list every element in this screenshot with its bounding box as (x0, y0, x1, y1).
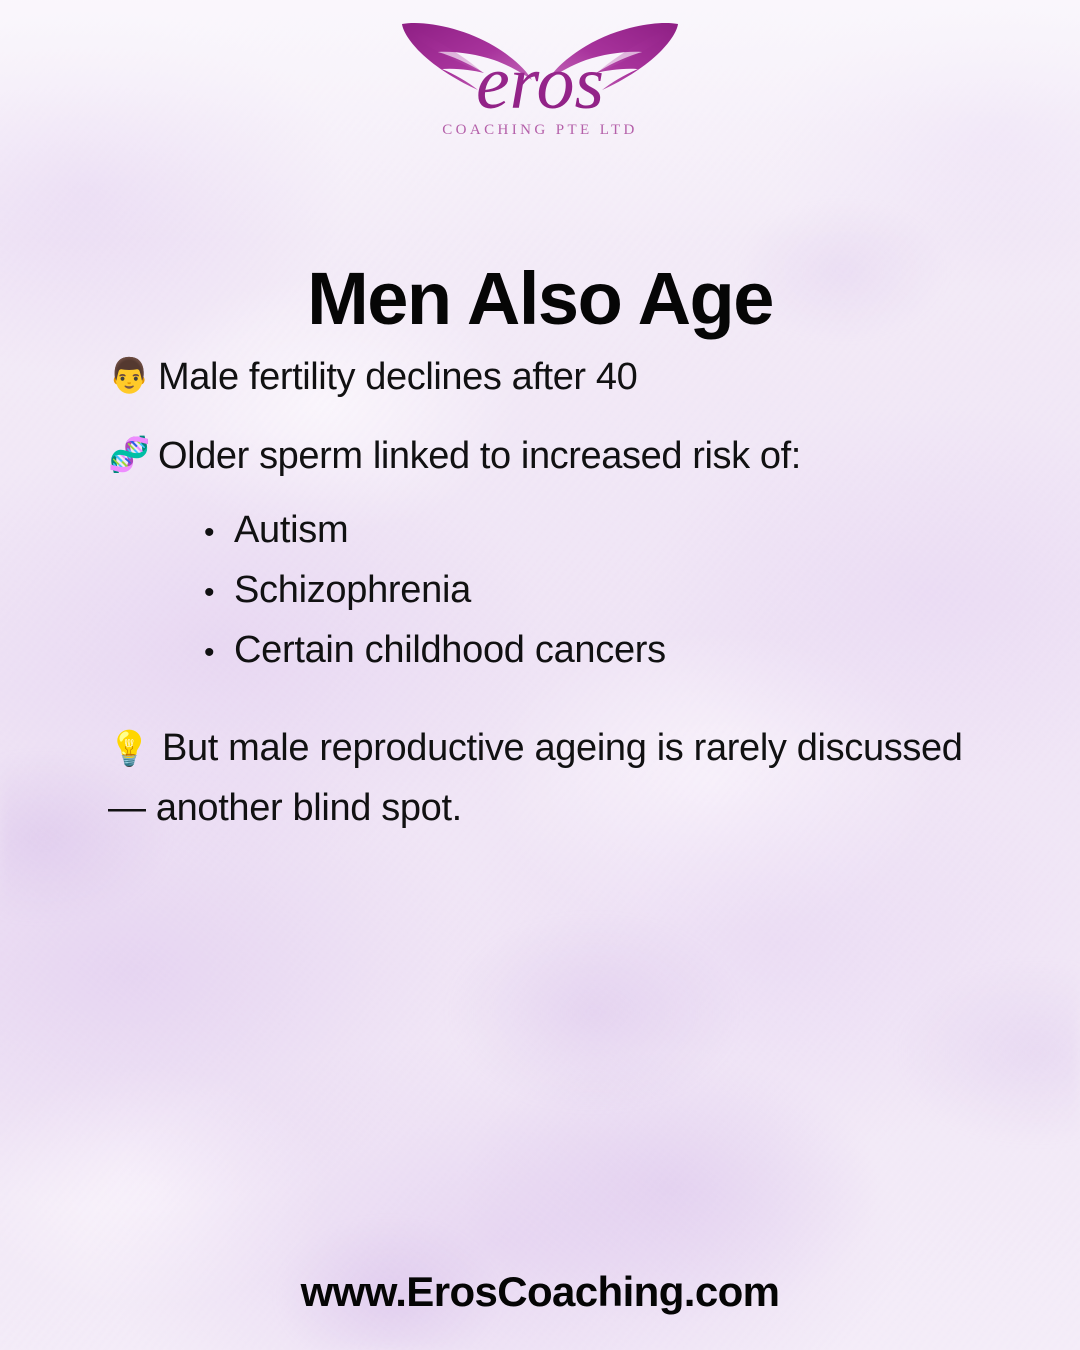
dna-emoji: 🧬 (108, 435, 158, 476)
fact-blindspot-text: But male reproductive ageing is rarely d… (108, 727, 963, 829)
page-title: Men Also Age (0, 262, 1080, 336)
fact-sperm-text: Older sperm linked to increased risk of: (158, 435, 1008, 478)
fact-fertility-text: Male fertility declines after 40 (158, 356, 1008, 399)
man-red-hair-emoji: 👨 (108, 356, 158, 397)
bullet-glyph: • (204, 578, 234, 608)
list-item-label: Certain childhood cancers (234, 620, 666, 680)
winged-eros-logo-icon: eros COACHING PTE LTD (390, 10, 690, 145)
list-item: • Schizophrenia (108, 560, 1008, 620)
poster-canvas: eros COACHING PTE LTD Men Also Age 👨 Mal… (0, 0, 1080, 1350)
fact-sperm: 🧬 Older sperm linked to increased risk o… (108, 435, 1008, 478)
bullet-glyph: • (204, 638, 234, 668)
list-item: • Certain childhood cancers (108, 620, 1008, 680)
list-item-label: Schizophrenia (234, 560, 471, 620)
body-content: 👨 Male fertility declines after 40 🧬 Old… (108, 356, 1008, 876)
list-item-label: Autism (234, 500, 348, 560)
website-url[interactable]: www.ErosCoaching.com (0, 1268, 1080, 1316)
list-item: • Autism (108, 500, 1008, 560)
logo-tagline: COACHING PTE LTD (442, 122, 638, 138)
bullet-glyph: • (204, 518, 234, 548)
fact-fertility: 👨 Male fertility declines after 40 (108, 356, 1008, 399)
logo-wordmark: eros (476, 41, 604, 125)
lightbulb-emoji: 💡 (108, 730, 150, 768)
brand-logo: eros COACHING PTE LTD (0, 10, 1080, 145)
risk-list: • Autism • Schizophrenia • Certain child… (108, 500, 1008, 680)
fact-blindspot: 💡But male reproductive ageing is rarely … (108, 718, 1008, 838)
